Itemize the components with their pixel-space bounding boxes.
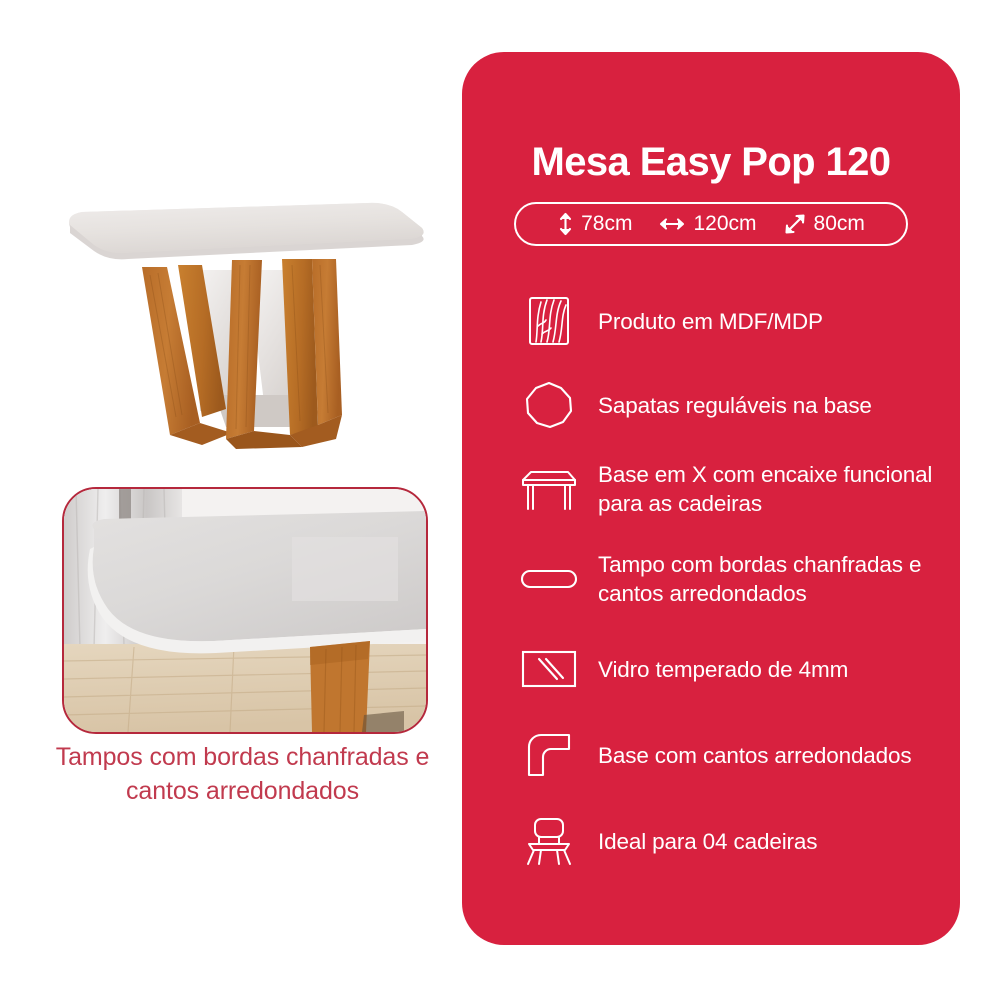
feature-label: Ideal para 04 cadeiras <box>598 827 817 856</box>
feature-label: Produto em MDF/MDP <box>598 307 823 336</box>
detail-inset-image <box>62 487 428 734</box>
dimension-height: 78cm <box>557 211 632 237</box>
table-illustration <box>50 195 440 485</box>
feature-label: Vidro temperado de 4mm <box>598 655 848 684</box>
page-title: Mesa Easy Pop 120 <box>462 140 960 185</box>
feature-item-four-chairs: Ideal para 04 cadeiras <box>518 812 942 870</box>
product-info-panel: Mesa Easy Pop 120 78cm <box>462 52 960 945</box>
feature-item-chamfered-top: Tampo com bordas chanfradas e cantos arr… <box>518 550 942 608</box>
rounded-corner-icon <box>518 728 580 782</box>
feature-item-rounded-base: Base com cantos arredondados <box>518 726 942 784</box>
height-arrow-icon <box>557 211 574 237</box>
gallery-column: Tampos com bordas chanfradas e cantos ar… <box>0 0 455 1000</box>
chair-icon <box>518 814 580 868</box>
feature-label: Tampo com bordas chanfradas e cantos arr… <box>598 550 942 608</box>
inset-caption: Tampos com bordas chanfradas e cantos ar… <box>35 740 450 808</box>
width-arrow-icon <box>658 215 686 233</box>
hero-product-image <box>50 195 440 485</box>
dimension-width: 120cm <box>658 212 756 236</box>
dimensions-pill: 78cm 120cm <box>514 202 908 246</box>
tabletop-edge-detail-illustration <box>64 489 426 732</box>
feature-label: Base com cantos arredondados <box>598 741 912 770</box>
dimension-depth: 80cm <box>783 212 865 236</box>
feature-label: Base em X com encaixe funcional para as … <box>598 460 942 518</box>
dimension-width-value: 120cm <box>693 212 756 236</box>
feature-list: Produto em MDF/MDP Sapatas reguláveis na… <box>518 292 942 870</box>
circle-foot-icon <box>518 378 580 432</box>
wood-grain-icon <box>518 294 580 348</box>
depth-arrow-icon <box>783 212 807 236</box>
feature-label: Sapatas reguláveis na base <box>598 391 872 420</box>
feature-item-tempered-glass: Vidro temperado de 4mm <box>518 640 942 698</box>
glass-panel-icon <box>518 642 580 696</box>
table-icon <box>518 462 580 516</box>
dimension-height-value: 78cm <box>581 212 632 236</box>
feature-item-mdf: Produto em MDF/MDP <box>518 292 942 350</box>
tabletop-edge-icon <box>518 552 580 606</box>
product-infographic: Tampos com bordas chanfradas e cantos ar… <box>0 0 1000 1000</box>
feature-item-adjustable-feet: Sapatas reguláveis na base <box>518 376 942 434</box>
feature-item-x-base: Base em X com encaixe funcional para as … <box>518 460 942 518</box>
dimension-depth-value: 80cm <box>814 212 865 236</box>
